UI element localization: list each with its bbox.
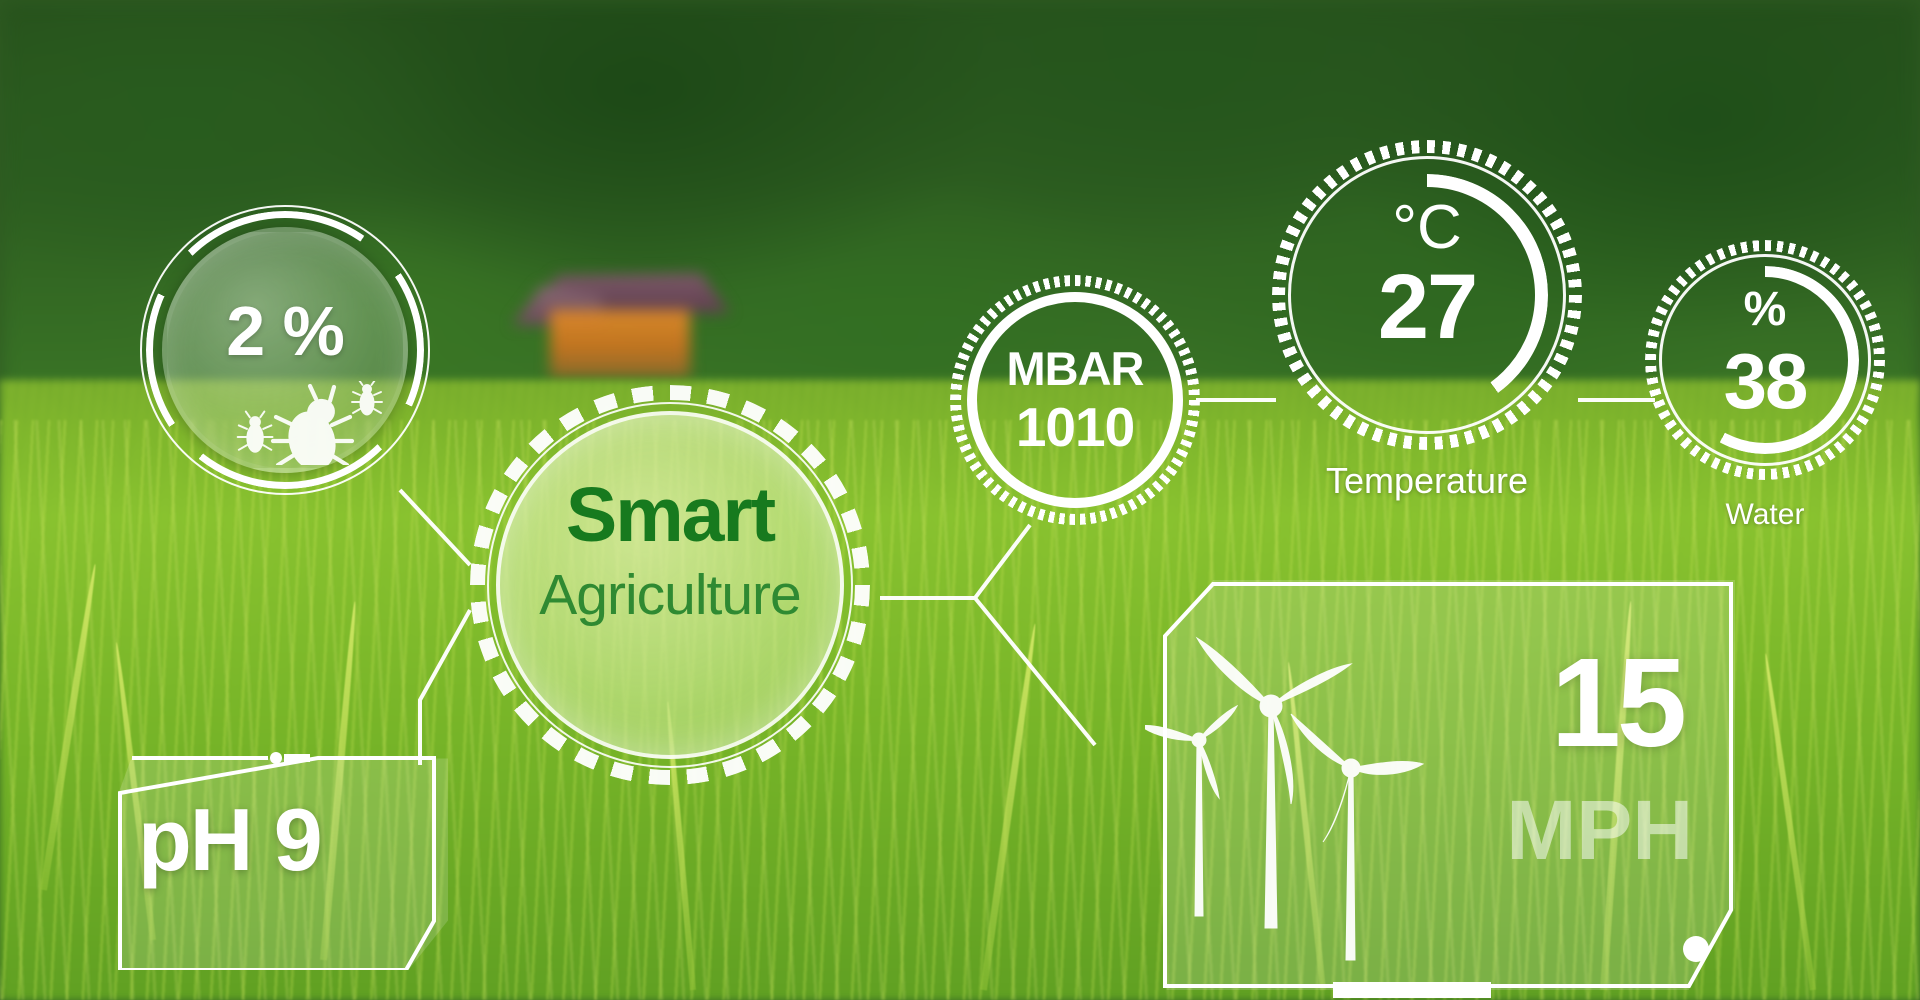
smart-agriculture-hub[interactable]: Smart Agriculture: [470, 385, 870, 785]
pressure-widget[interactable]: MBAR 1010: [950, 275, 1200, 525]
page-title: Smart: [470, 477, 870, 554]
temperature-value: 27: [1272, 255, 1582, 360]
temperature-unit: °C: [1272, 192, 1582, 263]
background-farmhouse: [520, 255, 730, 375]
wind-bottom-bar: [1333, 982, 1491, 998]
pest-level-widget[interactable]: 2 %: [140, 205, 430, 495]
water-label: Water: [1645, 498, 1885, 532]
wind-turbine-icon: [1145, 628, 1465, 968]
page-subtitle: Agriculture: [470, 567, 870, 624]
pressure-unit: MBAR: [950, 341, 1200, 396]
wind-speed-panel[interactable]: 15 MPH: [1155, 580, 1735, 990]
water-value: 38: [1645, 336, 1885, 427]
soil-ph-panel[interactable]: pH 9: [118, 745, 448, 970]
wind-corner-dot: [1683, 936, 1709, 962]
hud-scene: 2 %: [0, 0, 1920, 1000]
house-wall: [550, 310, 690, 378]
temperature-widget[interactable]: °C 27 Temperature: [1272, 140, 1582, 520]
pressure-value: 1010: [950, 395, 1200, 459]
water-widget[interactable]: % 38 Water: [1645, 240, 1885, 560]
pest-value: 2 %: [140, 291, 430, 371]
wind-unit: MPH: [1506, 788, 1693, 872]
insect-icon: [236, 381, 406, 465]
temperature-label: Temperature: [1272, 460, 1582, 502]
water-unit: %: [1645, 282, 1885, 337]
wind-value: 15: [1551, 640, 1683, 766]
ph-value: pH 9: [138, 789, 448, 891]
